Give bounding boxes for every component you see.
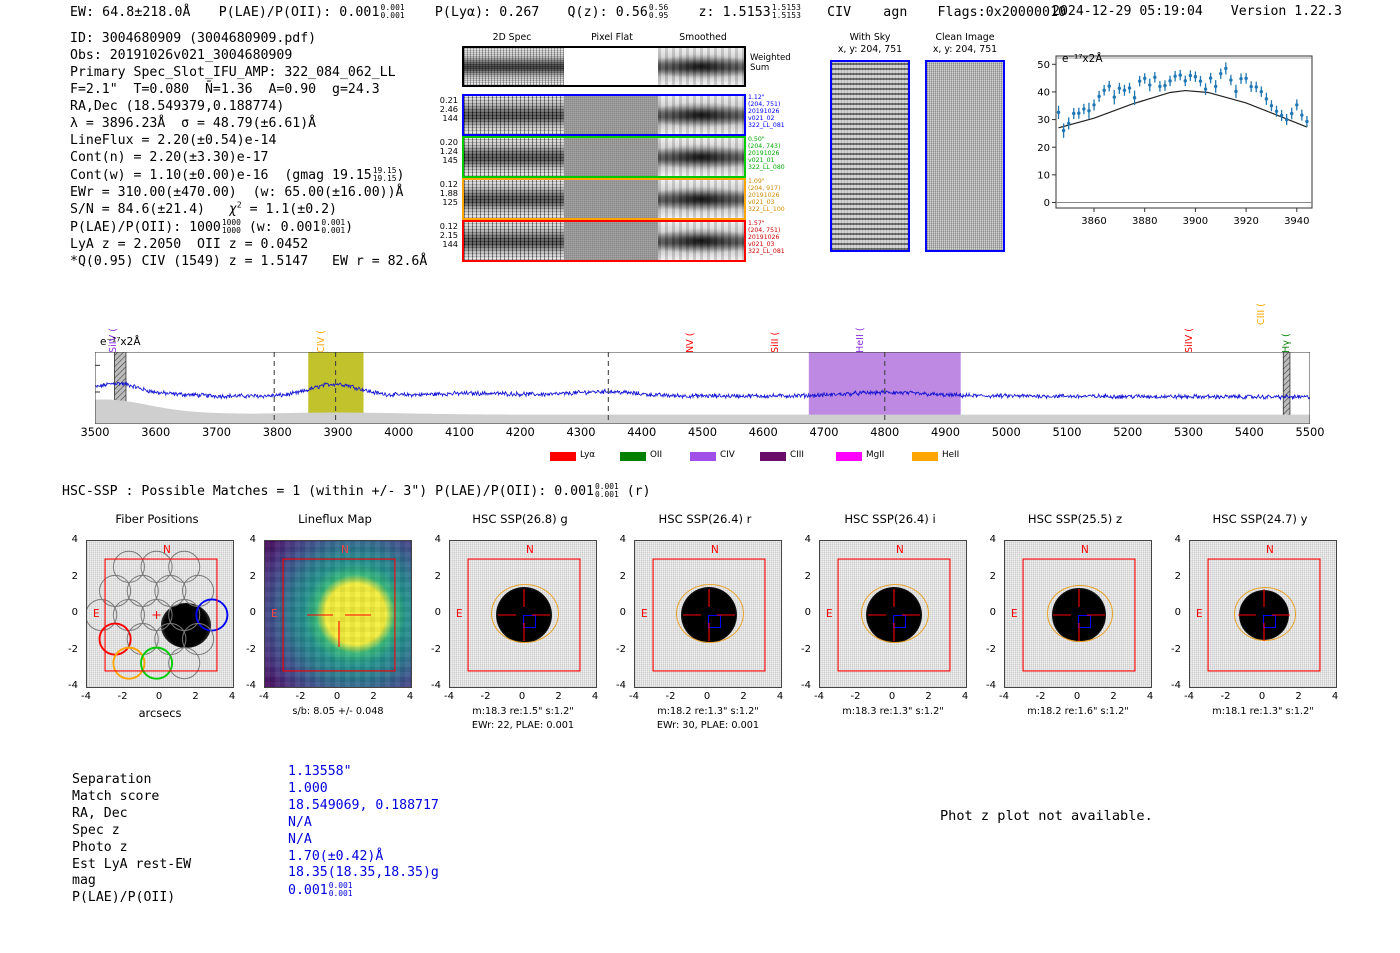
cutout-panel: HSC SSP(26.4) i420-2-4-4-2024NEm:18.3 re… [795,512,975,742]
spectrum-x-tick: 4900 [923,425,969,439]
header-plae-label: P(LAE)/P(OII): 0.001 [219,5,380,20]
spectrum-x-tick: 4200 [497,425,543,439]
spectrum-x-tick: 3600 [133,425,179,439]
red-aperture-overlay [1005,541,1152,688]
header-qz-label: Q(z): 0.56 [568,5,648,20]
cutout-image[interactable] [1004,540,1152,688]
red-aperture-overlay [265,541,412,688]
cutout-panel-title: HSC SSP(25.5) z [980,512,1170,526]
svg-text:3940: 3940 [1284,216,1309,227]
detail-label: Photo z [72,840,128,857]
svg-text:3860: 3860 [1081,216,1106,227]
detail-value: N/A [288,832,312,849]
spectrum-x-tick: 3700 [194,425,240,439]
spectrum-x-tick: 5000 [983,425,1029,439]
detail-label: Separation [72,772,151,789]
cutout-y-tick: 2 [1165,571,1181,582]
cutout-y-tick: 0 [980,607,996,618]
cutout-x-tick: 4 [772,691,788,702]
fiber-pixelflat-image [564,138,658,176]
cutout-x-tick: -4 [811,691,827,702]
col-header-2d-spec: 2D Spec [462,32,562,43]
fiber-stats: 0.12 2.15 144 [432,222,458,249]
detail-value: 1.13558" [288,764,352,781]
cutout-x-tick: -4 [441,691,457,702]
spectrum-x-tick: 4300 [558,425,604,439]
compass-east-label: E [456,608,463,620]
hsc-plae-range: 0.0010.001 [595,483,619,499]
detail-label: mag [72,873,96,890]
full-spectrum-svg: 2040 [95,352,1310,424]
fiber-pixelflat-image [564,180,658,218]
spectrum-x-tick: 4600 [740,425,786,439]
spectrum-x-tick: 3900 [315,425,361,439]
fiber-pixelflat-image [564,222,658,260]
cutout-panel-title: Lineflux Map [240,512,430,526]
header-timestamp: 2024-12-29 05:19:04 [1052,4,1203,19]
spectrum-x-tick: 4400 [619,425,665,439]
svg-text:3900: 3900 [1183,216,1208,227]
param-wavelength: λ = 3896.23Å σ = 48.79(±6.61)Å [70,116,427,133]
two-d-spectra-panel: 2D Spec Pixel Flat Smoothed Weighted Sum… [432,32,762,260]
cutout-x-tick: 4 [587,691,603,702]
cutout-x-tick: -2 [478,691,494,702]
param-ewr: EWr = 310.00(±470.00) (w: 65.00(±16.00))… [70,185,427,202]
fiber-stats: 0.12 1.88 125 [432,180,458,207]
fiber-smoothed-image [658,138,744,176]
fiber-meta: 1.09" (204, 917) 20191026 v021_03 322_LL… [748,178,785,213]
fiber-meta: 0.50" (204, 743) 20191026 v021_01 322_LL… [748,136,785,171]
param-obs: Obs: 20191026v021_3004680909 [70,48,427,65]
cutout-x-tick: 4 [957,691,973,702]
header-classification: agn [883,5,907,20]
cutout-caption-ewr: EWr: 30, PLAE: 0.001 [604,720,812,731]
cutout-image[interactable] [819,540,967,688]
header-summary-line: EW: 64.8±218.0Å P(LAE)/P(OII): 0.0010.00… [70,4,1066,20]
fiber-2dspec-image [464,138,564,176]
cutout-y-tick: 4 [1165,534,1181,545]
cutout-y-tick: -2 [1165,644,1181,655]
spectrum-x-tick: 5100 [1044,425,1090,439]
legend-label: HeII [942,450,959,460]
detection-parameters: ID: 3004680909 (3004680909.pdf) Obs: 201… [70,31,427,271]
cutout-y-tick: 0 [1165,607,1181,618]
cutout-y-tick: 4 [62,534,78,545]
cutout-caption-photometry: m:18.3 re:1.3" s:1.2" [789,706,997,717]
cutout-x-tick: 0 [1069,691,1085,702]
full-spectrum-chart: SiIV (CIV (NV (SiII (HeII (SiIV (CIII (H… [0,275,1400,475]
fiber-pixelflat-image [564,96,658,134]
legend-label: CIII [790,450,804,460]
svg-text:0: 0 [1044,198,1050,209]
cutout-panel: HSC SSP(25.5) z420-2-4-4-2024NEm:18.2 re… [980,512,1160,742]
cutout-panel: Fiber Positions420-2-4-4-2024NEarcsecs [62,512,242,742]
cutout-y-tick: -2 [62,644,78,655]
legend-swatch [836,452,862,461]
fiber-meta: 1.12" (204, 751) 20191026 v021_02 322_LL… [748,94,785,129]
zoomplot-units-annotation: e⁻¹⁷x2Å [1062,53,1103,65]
cutout-y-tick: -2 [425,644,441,655]
weighted-sum-2dspec-image [464,48,564,85]
compass-north-label: N [1266,544,1274,556]
compass-north-label: N [526,544,534,556]
cutout-panel-title: HSC SSP(26.8) g [425,512,615,526]
svg-text:3920: 3920 [1233,216,1258,227]
fiber-2dspec-image [464,222,564,260]
param-cont-w: Cont(w) = 1.10(±0.00)e-16 (gmag 19.1519.… [70,167,427,185]
cutout-x-tick: 0 [151,691,167,702]
clean-image-title: Clean Image x, y: 204, 751 [920,32,1010,55]
param-lineflux: LineFlux = 2.20(±0.54)e-14 [70,133,427,150]
compass-north-label: N [711,544,719,556]
spectrum-x-tick: 3800 [254,425,300,439]
compass-north-label: N [163,544,171,556]
cutout-axis-label: arcsecs [62,706,258,720]
compass-east-label: E [1196,608,1203,620]
fiber-smoothed-image [658,180,744,218]
compass-east-label: E [271,608,278,620]
header-plya: P(Lyα): 0.267 [435,5,540,20]
compass-north-label: N [896,544,904,556]
cutout-y-tick: -2 [980,644,996,655]
cutout-y-tick: -4 [610,680,626,691]
emission-line-label: CIV ( [316,313,327,353]
cutout-y-tick: 2 [425,571,441,582]
cutout-x-tick: 2 [921,691,937,702]
line-zoom-svg: 01020304050 38603880390039203940 [1030,50,1318,250]
red-aperture-overlay [87,541,234,688]
fiber-smoothed-image [658,96,744,134]
cutout-caption-photometry: m:18.1 re:1.3" s:1.2" [1159,706,1367,717]
red-aperture-overlay [450,541,597,688]
cutout-y-tick: 4 [980,534,996,545]
emission-line-label: HeII ( [855,313,866,353]
cutout-image[interactable] [86,540,234,688]
detail-value: 18.549069, 0.188717 [288,798,439,815]
cutout-caption-photometry: s/b: 8.05 +/- 0.048 [234,706,442,717]
clean-image [925,60,1005,252]
cutout-panel: HSC SSP(26.8) g420-2-4-4-2024NEm:18.3 re… [425,512,605,742]
cutout-x-tick: 2 [366,691,382,702]
fiber-meta: 1.57" (204, 751) 20191026 v021_03 322_LL… [748,220,785,255]
cutout-panel-title: HSC SSP(26.4) i [795,512,985,526]
plae-range: 10001000 [222,219,241,235]
spectrum-x-tick: 5400 [1226,425,1272,439]
cutout-image[interactable] [264,540,412,688]
compass-east-label: E [826,608,833,620]
cutout-y-tick: 2 [62,571,78,582]
cutout-y-tick: 2 [795,571,811,582]
cutout-x-tick: 4 [1327,691,1343,702]
cutout-x-tick: -4 [78,691,94,702]
emission-line-labels: SiIV (CIV (NV (SiII (HeII (SiIV (CIII (H… [0,275,1400,353]
cutout-x-tick: -4 [256,691,272,702]
detail-value: 1.70(±0.42)Å [288,849,383,866]
param-cont-n: Cont(n) = 2.20(±3.30)e-17 [70,150,427,167]
header-meta: 2024-12-29 05:19:04 Version 1.22.3 [1052,4,1342,19]
detail-label: Spec z [72,823,120,840]
spectrum-x-tick: 3500 [72,425,118,439]
legend-label: MgII [866,450,884,460]
cutout-x-tick: -2 [293,691,309,702]
cutout-y-tick: 2 [610,571,626,582]
red-aperture-overlay [1190,541,1337,688]
spectrum-x-tick-labels: 3500360037003800390040004100420043004400… [0,425,1400,445]
cutout-x-tick: -2 [848,691,864,702]
cutout-panel: Lineflux Map420-2-4-4-2024NEs/b: 8.05 +/… [240,512,420,742]
cutout-y-tick: -2 [240,644,256,655]
cutout-x-tick: -4 [1181,691,1197,702]
cutout-y-tick: -4 [62,680,78,691]
cutout-x-tick: 4 [224,691,240,702]
header-qz-range: 0.560.95 [649,4,668,20]
emission-line-label: SiIV ( [1184,313,1195,353]
svg-text:10: 10 [1037,170,1050,181]
cutout-x-tick: 2 [551,691,567,702]
header-plae-range: 0.0010.001 [380,4,404,20]
header-flags: Flags:0x20000010 [938,5,1067,20]
cutout-x-tick: 2 [736,691,752,702]
legend-swatch [760,452,786,461]
red-aperture-overlay [820,541,967,688]
cutout-image[interactable] [449,540,597,688]
weighted-sum-pixelflat-image [564,48,658,85]
cutout-caption-photometry: m:18.3 re:1.5" s:1.2" [419,706,627,717]
header-version: Version 1.22.3 [1231,4,1342,19]
svg-text:50: 50 [1037,60,1050,71]
svg-text:40: 40 [1037,88,1050,99]
legend-swatch [620,452,646,461]
weighted-sum-label: Weighted Sum [750,54,791,73]
cutout-x-tick: -4 [996,691,1012,702]
cutout-x-tick: 4 [402,691,418,702]
emission-line-label: NV ( [685,313,696,353]
detail-label: P(LAE)/P(OII) [72,890,175,907]
emission-line-label: Hγ ( [1281,313,1292,353]
detail-value: N/A [288,815,312,832]
detail-label: RA, Dec [72,806,128,823]
cutout-x-tick: 0 [1254,691,1270,702]
with-sky-title: With Sky x, y: 204, 751 [825,32,915,55]
cutout-caption-photometry: m:18.2 re:1.3" s:1.2" [604,706,812,717]
param-plae: P(LAE)/P(OII): 100010001000 (w: 0.0010.0… [70,219,427,237]
param-seeing: F=2.1" T=0.080 N̄=1.36 A=0.90 g=24.3 [70,82,427,99]
fiber-stats: 0.21 2.46 144 [432,96,458,123]
cutout-panel: HSC SSP(24.7) y420-2-4-4-2024NEm:18.1 re… [1165,512,1345,742]
param-solution: *Q(0.95) CIV (1549) z = 1.5147 EW r = 82… [70,254,427,271]
spectrum-x-tick: 5300 [1166,425,1212,439]
cutout-panel-title: Fiber Positions [62,512,252,526]
spectrum-x-tick: 4100 [437,425,483,439]
cutout-x-tick: 2 [188,691,204,702]
cutout-y-tick: -4 [425,680,441,691]
cutout-y-tick: -2 [795,644,811,655]
cutout-x-tick: -2 [663,691,679,702]
cutout-x-tick: -4 [626,691,642,702]
cutout-y-tick: 0 [425,607,441,618]
cutout-caption-photometry: m:18.2 re:1.6" s:1.2" [974,706,1182,717]
svg-text:20: 20 [1037,143,1050,154]
weighted-sum-smoothed-image [658,48,744,85]
cutout-y-tick: 2 [980,571,996,582]
spectrum-x-tick: 5200 [1105,425,1151,439]
fiber-2dspec-image [464,96,564,134]
compass-north-label: N [341,544,349,556]
cutout-y-tick: -4 [795,680,811,691]
cutout-panel-row: Fiber Positions420-2-4-4-2024NEarcsecsLi… [0,512,1400,742]
detail-label: Est LyA rest-EW [72,857,191,874]
legend-label: OII [650,450,662,460]
cutout-image[interactable] [634,540,782,688]
emission-line-label: CIII ( [1256,283,1267,325]
cutout-y-tick: 0 [240,607,256,618]
spectrum-x-tick: 4000 [376,425,422,439]
cutout-x-tick: 0 [884,691,900,702]
param-snr-chi2: S/N = 84.6(±21.4) χ2 = 1.1(±0.2) [70,202,427,219]
cutout-y-tick: 0 [795,607,811,618]
cutout-image[interactable] [1189,540,1337,688]
cutout-panel-title: HSC SSP(24.7) y [1165,512,1355,526]
cutout-caption-ewr: EWr: 22, PLAE: 0.001 [419,720,627,731]
col-header-pixel-flat: Pixel Flat [562,32,662,43]
legend-swatch [550,452,576,461]
cutout-x-tick: -2 [1218,691,1234,702]
header-line-id: CIV [827,5,851,20]
detail-value: 0.0010.0010.001 [288,882,353,900]
cutout-y-tick: 4 [425,534,441,545]
cutout-x-tick: 4 [1142,691,1158,702]
cutout-y-tick: -2 [610,644,626,655]
spectrum-units-annotation: e⁻¹⁷x2Å [100,336,141,348]
compass-east-label: E [1011,608,1018,620]
spectrum-x-tick: 4700 [801,425,847,439]
plae-w-range: 0.0010.001 [321,219,345,235]
detail-plae-range: 0.0010.001 [329,882,353,898]
line-zoom-spectrum-chart: 01020304050 38603880390039203940 e⁻¹⁷x2Å [1030,50,1318,208]
cutout-x-tick: 2 [1106,691,1122,702]
cutout-y-tick: 2 [240,571,256,582]
cutout-y-tick: -4 [1165,680,1181,691]
header-z-range: 1.51531.5153 [772,4,801,20]
legend-label: Lyα [580,450,595,460]
cutout-y-tick: 4 [795,534,811,545]
cutout-x-tick: 0 [329,691,345,702]
cutout-y-tick: -4 [980,680,996,691]
with-sky-image [830,60,910,252]
legend-swatch [912,452,938,461]
cutout-panel: HSC SSP(26.4) r420-2-4-4-2024NEm:18.2 re… [610,512,790,742]
legend-swatch [690,452,716,461]
spectrum-x-tick: 4800 [862,425,908,439]
param-radec: RA,Dec (18.549379,0.188774) [70,99,427,116]
param-primary-spec-slot: Primary Spec_Slot_IFU_AMP: 322_084_062_L… [70,65,427,82]
emission-line-label: SiII ( [770,313,781,353]
svg-text:30: 30 [1037,115,1050,126]
cutout-y-tick: 0 [62,607,78,618]
cutout-y-tick: 4 [610,534,626,545]
legend-label: CIV [720,450,735,460]
cutout-x-tick: 2 [1291,691,1307,702]
cutout-x-tick: -2 [115,691,131,702]
header-ew: EW: 64.8±218.0Å [70,5,191,20]
cutout-y-tick: 4 [240,534,256,545]
compass-east-label: E [641,608,648,620]
svg-text:3880: 3880 [1132,216,1157,227]
cutout-x-tick: 0 [514,691,530,702]
param-id: ID: 3004680909 (3004680909.pdf) [70,31,427,48]
cutout-panel-title: HSC SSP(26.4) r [610,512,800,526]
photz-unavailable-note: Phot z plot not available. [940,808,1153,824]
col-header-smoothed: Smoothed [660,32,746,43]
fiber-smoothed-image [658,222,744,260]
cutout-x-tick: 0 [699,691,715,702]
cutout-y-tick: 0 [610,607,626,618]
header-z-label: z: 1.5153 [698,5,770,20]
param-redshifts: LyA z = 2.2050 OII z = 0.0452 [70,237,427,254]
fiber-stats: 0.20 1.24 145 [432,138,458,165]
detail-label: Match score [72,789,159,806]
spectrum-x-tick: 4500 [680,425,726,439]
cutout-y-tick: -4 [240,680,256,691]
compass-east-label: E [93,608,100,620]
spectrum-x-tick: 5500 [1287,425,1333,439]
detail-value: 18.35(18.35,18.35)g [288,865,439,882]
cutout-x-tick: -2 [1033,691,1049,702]
compass-north-label: N [1081,544,1089,556]
gmag-range: 19.1519.15 [373,167,397,183]
spectrum-legend: LyαOIICIVCIIIMgIIHeII [0,450,1400,466]
red-aperture-overlay [635,541,782,688]
detail-value: 1.000 [288,781,328,798]
hsc-ssp-match-headline: HSC-SSP : Possible Matches = 1 (within +… [62,483,651,499]
fiber-2dspec-image [464,180,564,218]
